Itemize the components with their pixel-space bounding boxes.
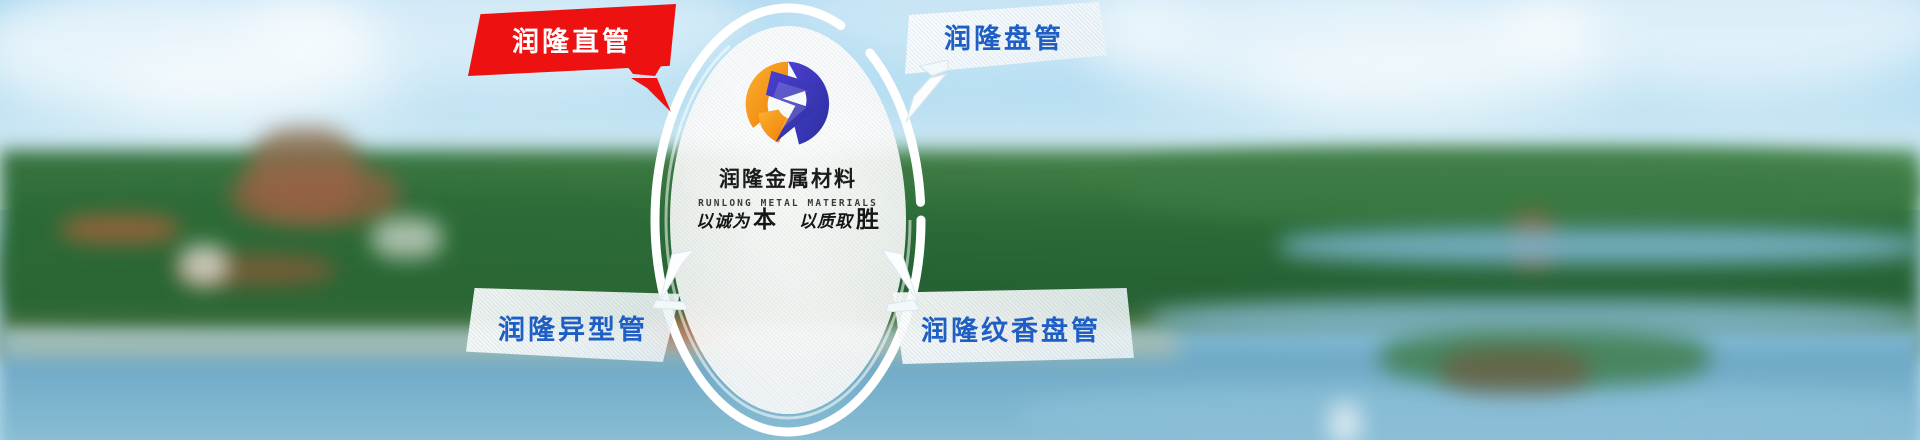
callout-label: 润隆纹香盘管	[921, 309, 1101, 348]
connector-pattern-coil-icon	[880, 250, 952, 312]
slogan-left: 以诚为本	[696, 200, 777, 234]
connector-coil-pipe-icon	[880, 60, 950, 124]
slogan-left-text: 以诚为	[696, 212, 750, 232]
runlong-r-emblem-icon	[742, 58, 834, 150]
slogan-right-text: 以质取	[799, 212, 853, 232]
callout-label: 润隆直管	[512, 20, 632, 59]
callout-label: 润隆异型管	[498, 308, 648, 347]
slogan-right: 以质取胜	[799, 200, 880, 234]
slogan-right-accent: 胜	[856, 206, 880, 233]
brand-slogan: 以诚为本 以质取胜	[656, 200, 920, 234]
brand-name-cn: 润隆金属材料	[692, 163, 884, 193]
callout-label: 润隆盘管	[944, 17, 1064, 56]
hero-banner: 润隆金属材料 RUNLONG METAL MATERIALS 以诚为本 以质取胜…	[0, 0, 1920, 440]
connector-straight-pipe-icon	[625, 66, 675, 114]
slogan-left-accent: 本	[753, 206, 777, 233]
connector-shaped-pipe-icon	[620, 250, 696, 310]
